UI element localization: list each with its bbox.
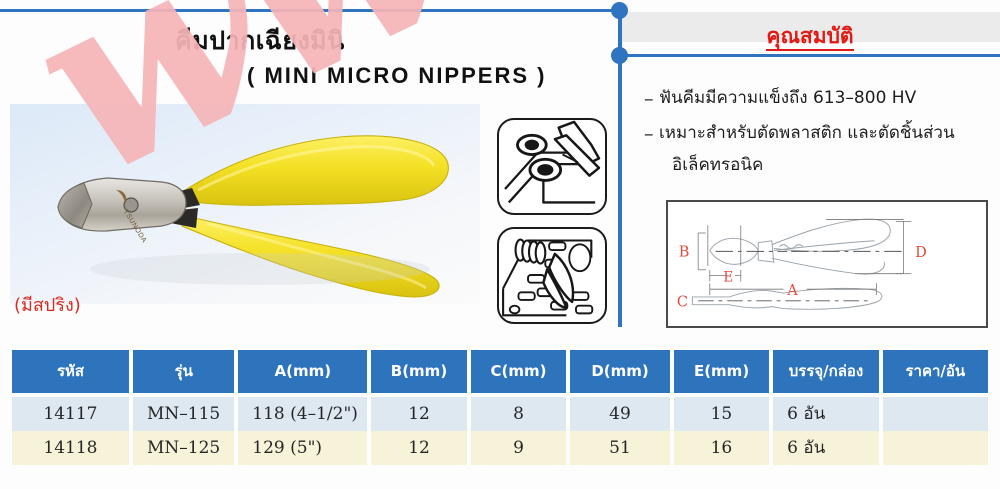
top-rule-left (0, 9, 620, 12)
cutting-rings-art (499, 120, 605, 213)
cell-price (883, 431, 988, 465)
label-b: B (679, 244, 690, 260)
cell-pack: 6 อัน (773, 397, 879, 431)
feature-item: – เหมาะสำหรับตัดพลาสติก และตัดชิ้นส่วน (644, 121, 994, 149)
cell-model: MN–115 (133, 397, 234, 431)
dimension-diagram-art: B E D A C (668, 202, 986, 326)
column-header-code: รหัส (12, 350, 129, 393)
table-body: 14117 MN–115 118 (4–1/2") 12 8 49 15 6 อ… (12, 397, 988, 465)
feature-text: ฟันคีมมีความแข็งถึง 613–800 HV (659, 86, 916, 111)
rule-right (618, 54, 1000, 57)
application-illustration-top (497, 118, 607, 215)
column-header-a: A(mm) (238, 350, 367, 393)
column-header-e: E(mm) (674, 350, 770, 393)
label-d: D (915, 245, 927, 261)
feature-item: – ฟันคีมมีความแข็งถึง 613–800 HV (644, 86, 994, 114)
application-illustration-bottom (497, 227, 607, 324)
table-row: 14117 MN–115 118 (4–1/2") 12 8 49 15 6 อ… (12, 397, 988, 431)
column-header-b: B(mm) (371, 350, 467, 393)
cell-c: 9 (471, 431, 567, 465)
cell-a: 129 (5") (238, 431, 367, 465)
dash-marker: – (644, 86, 659, 114)
product-photo: TSUNODA (10, 104, 480, 304)
feature-text: เหมาะสำหรับตัดพลาสติก และตัดชิ้นส่วน (659, 121, 955, 146)
page-title-english: ( MINI MICRO NIPPERS ) (247, 63, 546, 89)
component-oval (569, 244, 590, 271)
cell-c: 8 (471, 397, 567, 431)
cutting-pcb-art (499, 229, 605, 322)
features-heading-wrap: คุณสมบัติ (0, 20, 1000, 53)
photo-shadow (90, 253, 430, 285)
dash-marker: – (644, 121, 659, 149)
nippers-photo-art: TSUNODA (10, 104, 480, 304)
column-header-d: D(mm) (570, 350, 669, 393)
cell-model: MN–125 (133, 431, 234, 465)
cell-b: 12 (371, 431, 467, 465)
cell-d: 49 (570, 397, 669, 431)
label-e: E (723, 269, 733, 285)
column-header-c: C(mm) (471, 350, 567, 393)
cell-e: 16 (674, 431, 770, 465)
cell-e: 15 (674, 397, 770, 431)
table-row: 14118 MN–125 129 (5") 12 9 51 16 6 อัน (12, 431, 988, 465)
cell-a: 118 (4–1/2") (238, 397, 367, 431)
cell-pack: 6 อัน (773, 431, 879, 465)
cell-b: 12 (371, 397, 467, 431)
column-header-price: ราคา/อัน (883, 350, 988, 393)
cell-code: 14118 (12, 431, 129, 465)
catalog-page: คีมปากเฉียงมินิ ( MINI MICRO NIPPERS ) ค… (0, 0, 1000, 489)
feature-text-continued: อิเล็คทรอนิค (672, 151, 994, 178)
column-header-model: รุ่น (133, 350, 234, 393)
label-a: A (786, 283, 798, 299)
features-list: – ฟันคีมมีความแข็งถึง 613–800 HV – เหมาะ… (644, 86, 994, 178)
specification-table: รหัส รุ่น A(mm) B(mm) C(mm) D(mm) E(mm) … (12, 350, 988, 465)
connector-dot-top (611, 2, 628, 19)
upper-handle (182, 136, 448, 205)
dimension-diagram: B E D A C (666, 200, 988, 328)
column-header-pack: บรรจุ/กล่อง (773, 350, 878, 393)
label-c: C (677, 295, 688, 311)
table-header-row: รหัส รุ่น A(mm) B(mm) C(mm) D(mm) E(mm) … (12, 350, 988, 393)
spring-note: (มีสปริง) (14, 290, 81, 319)
features-heading: คุณสมบัติ (766, 24, 853, 51)
cell-d: 51 (570, 431, 669, 465)
cell-code: 14117 (12, 397, 129, 431)
cell-price (883, 397, 988, 431)
